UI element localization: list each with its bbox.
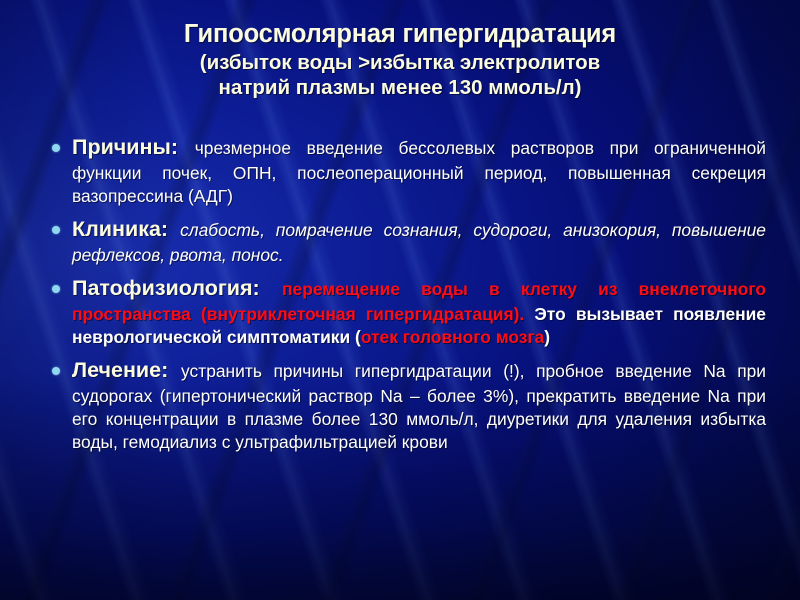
bullet-dot-icon xyxy=(52,367,60,375)
bullet-text-causes: Причины: чрезмерное введение бессолевых … xyxy=(72,133,766,208)
slide-subtitle-line-2: натрий плазмы менее 130 ммоль/л) xyxy=(0,75,800,101)
bullet-text-pathophysiology: Патофизиология: перемещение воды в клетк… xyxy=(72,274,766,349)
bullet-item-pathophysiology: Патофизиология: перемещение воды в клетк… xyxy=(44,274,766,349)
bullet-text-treatment: Лечение: устранить причины гипергидратац… xyxy=(72,356,766,454)
pathophysiology-segment-red-2: отек головного мозга xyxy=(361,327,544,347)
bullet-heading-treatment: Лечение: xyxy=(72,358,181,382)
bullet-heading-pathophysiology: Патофизиология: xyxy=(72,276,282,300)
slide-content: Гипоосмолярная гипергидратация (избыток … xyxy=(0,0,800,600)
bullet-dot-icon xyxy=(52,144,60,152)
slide-title: Гипоосмолярная гипергидратация xyxy=(0,20,800,50)
bullet-list: Причины: чрезмерное введение бессолевых … xyxy=(44,133,766,455)
bullet-item-causes: Причины: чрезмерное введение бессолевых … xyxy=(44,133,766,208)
bullet-dot-icon xyxy=(52,285,60,293)
bullet-text-clinical: Клиника: слабость, помрачение сознания, … xyxy=(72,215,766,267)
bullet-heading-causes: Причины: xyxy=(72,135,195,159)
bullet-item-treatment: Лечение: устранить причины гипергидратац… xyxy=(44,356,766,454)
bullet-heading-clinical: Клиника: xyxy=(72,217,180,241)
slide-subtitle-line-1: (избыток воды >избытка электролитов xyxy=(0,50,800,76)
bullet-item-clinical: Клиника: слабость, помрачение сознания, … xyxy=(44,215,766,267)
bullet-dot-icon xyxy=(52,226,60,234)
pathophysiology-segment-white-2: ) xyxy=(544,327,550,347)
presentation-slide: Гипоосмолярная гипергидратация (избыток … xyxy=(0,0,800,600)
slide-title-block: Гипоосмолярная гипергидратация (избыток … xyxy=(0,20,800,101)
